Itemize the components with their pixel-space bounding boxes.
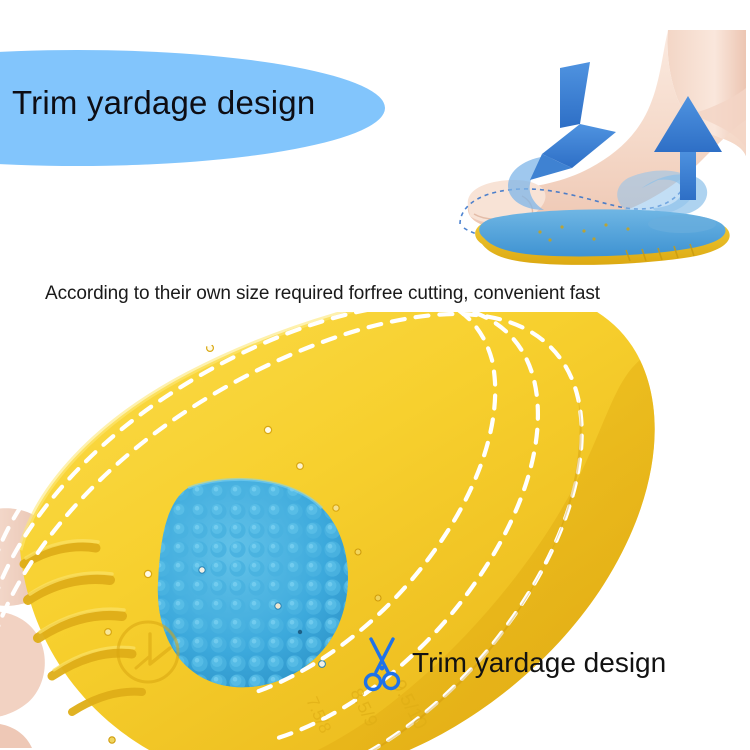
hero-illustration bbox=[430, 28, 750, 273]
scissors-icon bbox=[362, 636, 402, 694]
subtitle-text: According to their own size required for… bbox=[45, 283, 600, 305]
product-marketing-image: Trim yardage design bbox=[0, 0, 750, 750]
footer-caption: Trim yardage design bbox=[412, 647, 666, 679]
insole-blue-yellow bbox=[475, 209, 730, 265]
page-title: Trim yardage design bbox=[12, 84, 315, 122]
